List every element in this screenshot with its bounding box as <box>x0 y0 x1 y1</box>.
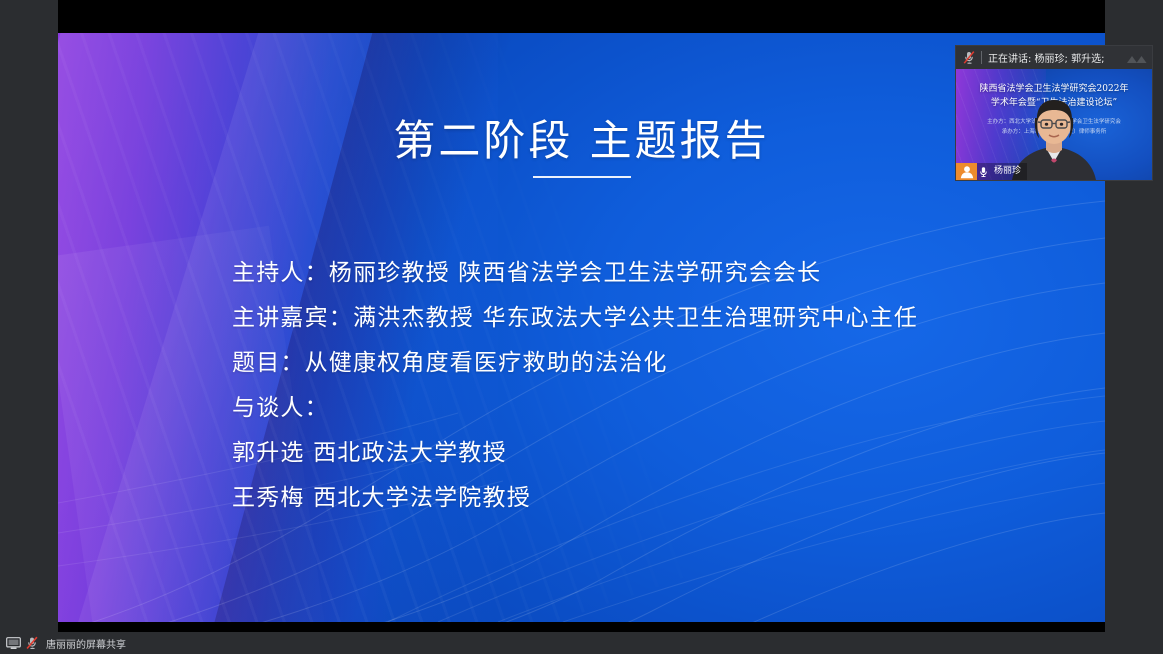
shared-slide[interactable]: 第二阶段 主题报告 主持人：杨丽珍教授 陕西省法学会卫生法学研究会会长 主讲嘉宾… <box>58 33 1105 622</box>
monitor-icon <box>6 637 21 650</box>
status-bar: 唐丽丽的屏幕共享 <box>0 632 1163 654</box>
mic-muted-icon <box>962 50 976 65</box>
screen-share-label: 唐丽丽的屏幕共享 <box>46 636 126 651</box>
mic-icon <box>977 163 990 180</box>
collapse-chevrons-icon[interactable] <box>1126 51 1148 65</box>
participant-name-bar: 杨丽珍 <box>956 163 1027 180</box>
header-divider <box>981 51 982 64</box>
participant-name-label: 杨丽珍 <box>990 163 1027 180</box>
slide-line-topic: 题目：从健康权角度看医疗救助的法治化 <box>232 341 1065 386</box>
slide-body: 主持人：杨丽珍教授 陕西省法学会卫生法学研究会会长 主讲嘉宾：满洪杰教授 华东政… <box>232 251 1065 521</box>
participant-video-thumbnail[interactable]: 正在讲话: 杨丽珍; 郭升选; 陕西省法学会卫生法学研究会2022年 学术年会暨… <box>955 45 1153 181</box>
avatar-icon <box>956 163 977 180</box>
thumbnail-video: 陕西省法学会卫生法学研究会2022年 学术年会暨“卫生法治建设论坛” 主办方：西… <box>956 69 1152 180</box>
thumbnail-slide-title-line1: 陕西省法学会卫生法学研究会2022年 <box>960 82 1148 96</box>
slide-title-rule <box>533 176 631 178</box>
slide-title: 第二阶段 主题报告 <box>58 107 1105 168</box>
active-speaker-label: 正在讲话: 杨丽珍; 郭升选; <box>988 50 1126 65</box>
slide-line-discussant-1: 郭升选 西北政法大学教授 <box>232 431 1065 476</box>
slide-line-discussants: 与谈人： <box>232 386 1065 431</box>
slide-line-discussant-2: 王秀梅 西北大学法学院教授 <box>232 476 1065 521</box>
thumbnail-header: 正在讲话: 杨丽珍; 郭升选; <box>956 46 1152 69</box>
mic-muted-icon <box>25 636 41 650</box>
slide-line-speaker: 主讲嘉宾：满洪杰教授 华东政法大学公共卫生治理研究中心主任 <box>232 296 1065 341</box>
slide-line-host: 主持人：杨丽珍教授 陕西省法学会卫生法学研究会会长 <box>232 251 1065 296</box>
zoom-meeting-window: 第二阶段 主题报告 主持人：杨丽珍教授 陕西省法学会卫生法学研究会会长 主讲嘉宾… <box>0 0 1163 654</box>
